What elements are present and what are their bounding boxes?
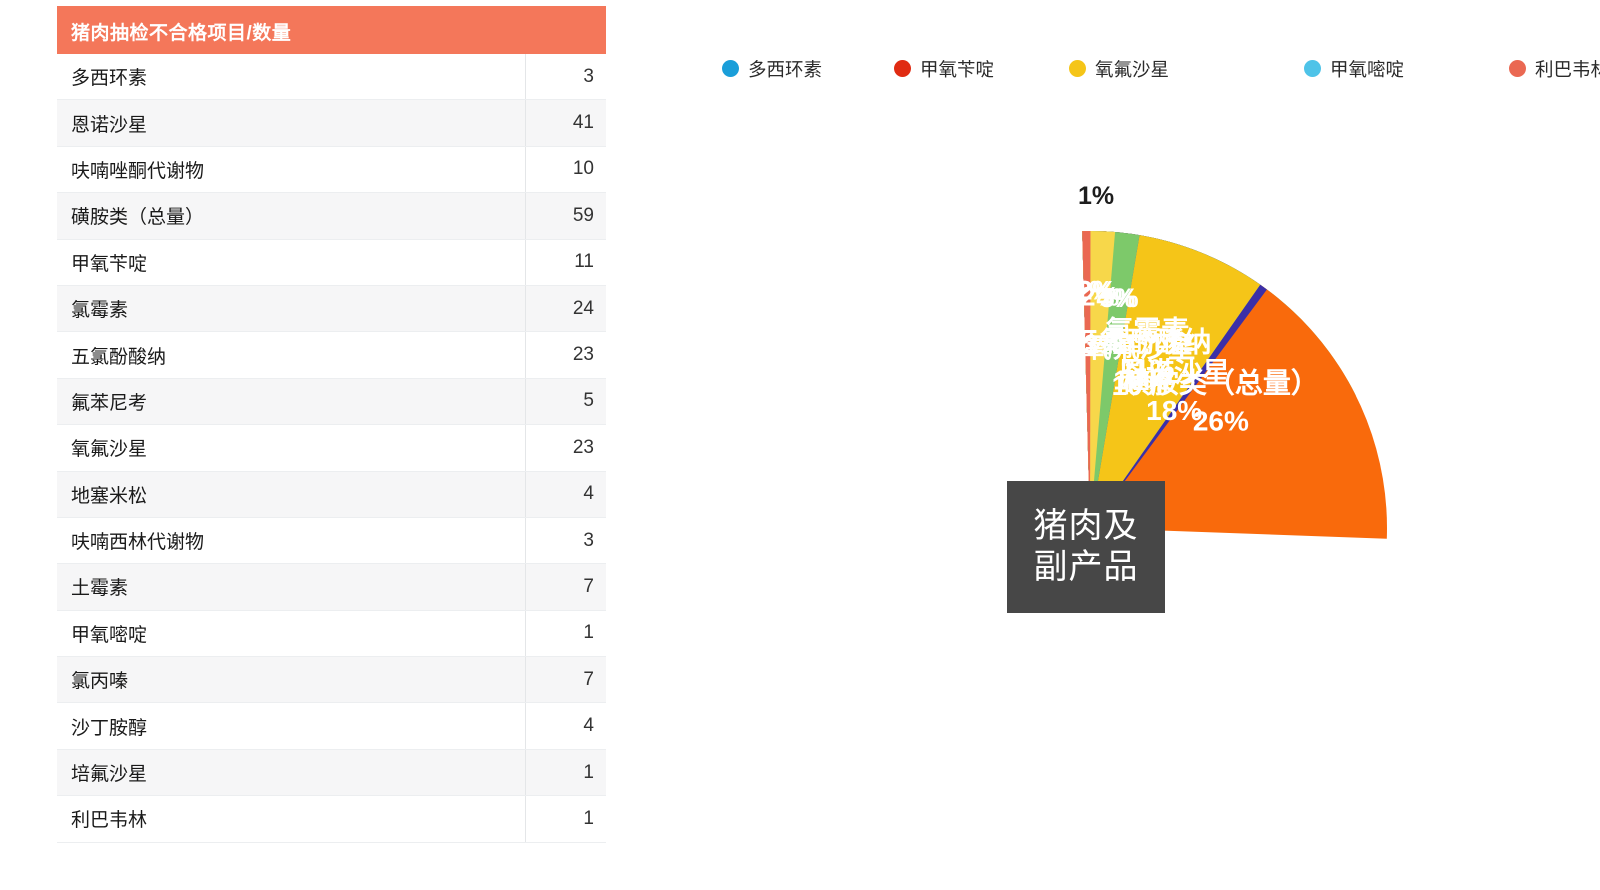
table-row: 土霉素7 xyxy=(57,564,606,610)
table-row: 磺胺类（总量）59 xyxy=(57,193,606,239)
table-cell-name: 培氟沙星 xyxy=(57,750,526,795)
table-title: 猪肉抽检不合格项目/数量 xyxy=(57,6,606,54)
table-cell-value: 1 xyxy=(526,762,606,784)
table-cell-name: 多西环素 xyxy=(57,54,526,99)
legend-item-label: 利巴韦林 xyxy=(1535,56,1600,82)
table-row: 呋喃西林代谢物3 xyxy=(57,518,606,564)
inspection-table: 猪肉抽检不合格项目/数量 多西环素3恩诺沙星41呋喃唑酮代谢物10磺胺类（总量）… xyxy=(57,6,606,843)
table-cell-name: 呋喃唑酮代谢物 xyxy=(57,147,526,192)
table-cell-value: 4 xyxy=(526,715,606,737)
table-cell-name: 氧氟沙星 xyxy=(57,425,526,470)
table-row: 氯丙嗪7 xyxy=(57,657,606,703)
table-cell-name: 利巴韦林 xyxy=(57,796,526,841)
legend-item[interactable]: 多西环素 xyxy=(722,52,894,85)
table-cell-value: 1 xyxy=(526,808,606,830)
table-row: 利巴韦林1 xyxy=(57,796,606,842)
legend-item-label: 氧氟沙星 xyxy=(1095,56,1169,82)
legend-item[interactable]: 氧氟沙星 xyxy=(1069,52,1304,85)
table-cell-value: 1 xyxy=(526,622,606,644)
table-row: 培氟沙星1 xyxy=(57,750,606,796)
pie-slice-label-outside: 1% xyxy=(1078,182,1114,211)
table-cell-value: 3 xyxy=(526,530,606,552)
center-label-line2: 副产品 xyxy=(1034,547,1139,588)
table-row: 恩诺沙星41 xyxy=(57,100,606,146)
table-cell-name: 呋喃西林代谢物 xyxy=(57,518,526,563)
legend-color-dot-icon xyxy=(722,60,739,77)
table-row: 氯霉素24 xyxy=(57,286,606,332)
legend-item-label: 甲氧嘧啶 xyxy=(1330,56,1404,82)
table-cell-name: 氯丙嗪 xyxy=(57,657,526,702)
table-cell-name: 恩诺沙星 xyxy=(57,100,526,145)
table-cell-name: 氟苯尼考 xyxy=(57,379,526,424)
table-row: 五氯酚酸纳23 xyxy=(57,332,606,378)
table-cell-value: 7 xyxy=(526,576,606,598)
pie-legend: 多西环素甲氧苄啶氧氟沙星甲氧嘧啶利巴韦林恩诺沙星氯霉素地塞米松氯丙嗪呋喃唑酮代谢… xyxy=(722,52,1512,85)
table-cell-value: 4 xyxy=(526,483,606,505)
table-cell-name: 磺胺类（总量） xyxy=(57,193,526,238)
table-cell-value: 23 xyxy=(526,344,606,366)
legend-item[interactable]: 甲氧苄啶 xyxy=(894,52,1069,85)
table-row: 氧氟沙星23 xyxy=(57,425,606,471)
table-cell-name: 五氯酚酸纳 xyxy=(57,332,526,377)
table-cell-name: 甲氧嘧啶 xyxy=(57,611,526,656)
legend-color-dot-icon xyxy=(1069,60,1086,77)
table-row: 甲氧嘧啶1 xyxy=(57,611,606,657)
pie-slice-label: 2% xyxy=(1077,276,1116,306)
table-cell-name: 氯霉素 xyxy=(57,286,526,331)
center-label-line1: 猪肉及 xyxy=(1034,506,1139,547)
table-cell-name: 土霉素 xyxy=(57,564,526,609)
table-cell-value: 41 xyxy=(526,112,606,134)
table-cell-value: 5 xyxy=(526,390,606,412)
pie-slice-label: 3% xyxy=(1083,329,1122,359)
table-row: 氟苯尼考5 xyxy=(57,379,606,425)
table-body: 多西环素3恩诺沙星41呋喃唑酮代谢物10磺胺类（总量）59甲氧苄啶11氯霉素24… xyxy=(57,54,606,843)
table-cell-name: 甲氧苄啶 xyxy=(57,240,526,285)
legend-color-dot-icon xyxy=(1304,60,1321,77)
table-cell-name: 地塞米松 xyxy=(57,472,526,517)
legend-color-dot-icon xyxy=(1509,60,1526,77)
legend-item-label: 多西环素 xyxy=(748,56,822,82)
table-cell-name: 沙丁胺醇 xyxy=(57,703,526,748)
table-cell-value: 10 xyxy=(526,158,606,180)
legend-item-label: 甲氧苄啶 xyxy=(920,56,994,82)
table-cell-value: 3 xyxy=(526,66,606,88)
table-cell-value: 23 xyxy=(526,437,606,459)
pie-center-label: 猪肉及 副产品 xyxy=(1007,481,1165,613)
table-row: 多西环素3 xyxy=(57,54,606,100)
legend-item[interactable]: 甲氧嘧啶 xyxy=(1304,52,1509,85)
table-row: 沙丁胺醇4 xyxy=(57,703,606,749)
table-row: 呋喃唑酮代谢物10 xyxy=(57,147,606,193)
legend-item[interactable]: 利巴韦林 xyxy=(1509,52,1600,85)
table-cell-value: 59 xyxy=(526,205,606,227)
table-row: 甲氧苄啶11 xyxy=(57,240,606,286)
table-cell-value: 7 xyxy=(526,669,606,691)
table-row: 地塞米松4 xyxy=(57,472,606,518)
legend-color-dot-icon xyxy=(894,60,911,77)
table-cell-value: 24 xyxy=(526,298,606,320)
table-cell-value: 11 xyxy=(526,251,606,273)
